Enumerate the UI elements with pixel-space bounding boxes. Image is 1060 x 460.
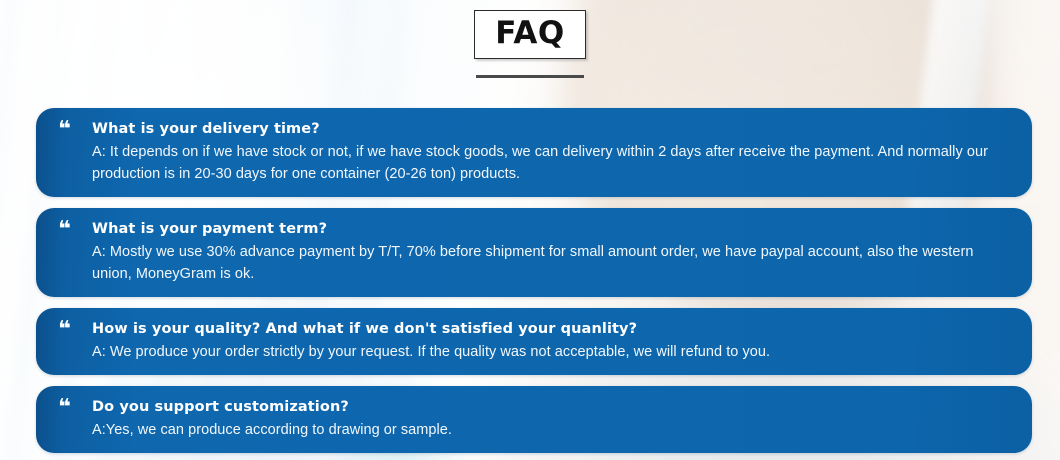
- faq-item[interactable]: ❝ Do you support customization? A:Yes, w…: [36, 386, 1032, 453]
- faq-answer: A: Mostly we use 30% advance payment by …: [92, 241, 1010, 285]
- page-header: FAQ: [0, 0, 1060, 78]
- faq-question: What is your delivery time?: [92, 119, 1010, 140]
- faq-answer: A: We produce your order strictly by you…: [92, 341, 1010, 363]
- faq-item-body: What is your delivery time? A: It depend…: [92, 119, 1010, 185]
- faq-answer: A: It depends on if we have stock or not…: [92, 141, 1010, 185]
- quote-icon: ❝: [58, 220, 92, 240]
- page-title: FAQ: [495, 13, 564, 53]
- faq-question: Do you support customization?: [92, 397, 1010, 418]
- quote-icon: ❝: [58, 120, 92, 140]
- faq-title-badge: FAQ: [474, 10, 585, 59]
- quote-icon: ❝: [58, 398, 92, 418]
- faq-item-body: What is your payment term? A: Mostly we …: [92, 219, 1010, 285]
- faq-item-body: Do you support customization? A:Yes, we …: [92, 397, 1010, 441]
- faq-item-body: How is your quality? And what if we don'…: [92, 319, 1010, 363]
- faq-list: ❝ What is your delivery time? A: It depe…: [36, 108, 1032, 453]
- faq-item[interactable]: ❝ What is your payment term? A: Mostly w…: [36, 208, 1032, 297]
- faq-page: FAQ ❝ What is your delivery time? A: It …: [0, 0, 1060, 460]
- faq-item[interactable]: ❝ What is your delivery time? A: It depe…: [36, 108, 1032, 197]
- quote-icon: ❝: [58, 320, 92, 340]
- faq-question: How is your quality? And what if we don'…: [92, 319, 1010, 340]
- faq-item[interactable]: ❝ How is your quality? And what if we do…: [36, 308, 1032, 375]
- title-divider: [476, 75, 584, 78]
- faq-answer: A:Yes, we can produce according to drawi…: [92, 419, 1010, 441]
- faq-question: What is your payment term?: [92, 219, 1010, 240]
